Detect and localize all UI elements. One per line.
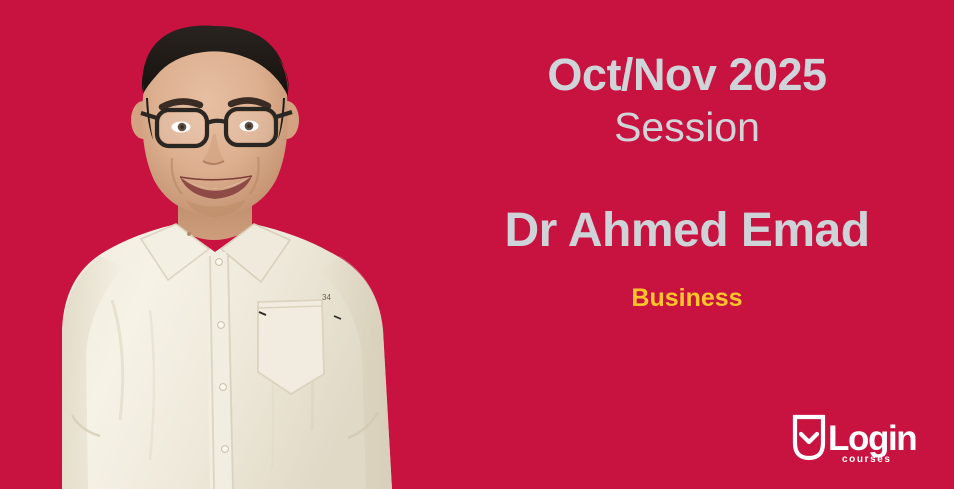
promo-banner: 34 bbox=[0, 0, 954, 489]
presenter-photo: 34 bbox=[0, 0, 480, 489]
session-date: Oct/Nov 2025 bbox=[547, 52, 826, 97]
svg-text:courses: courses bbox=[842, 454, 892, 465]
login-courses-logo[interactable]: Login courses bbox=[790, 413, 930, 467]
presenter-name: Dr Ahmed Emad bbox=[504, 207, 869, 255]
svg-text:Login: Login bbox=[828, 419, 916, 458]
svg-text:34: 34 bbox=[322, 293, 331, 302]
session-label: Session bbox=[614, 104, 760, 151]
shield-chevron-icon bbox=[795, 417, 823, 458]
presenter-subject: Business bbox=[631, 286, 742, 311]
session-text-block: Oct/Nov 2025 Session Dr Ahmed Emad Busin… bbox=[420, 0, 954, 360]
